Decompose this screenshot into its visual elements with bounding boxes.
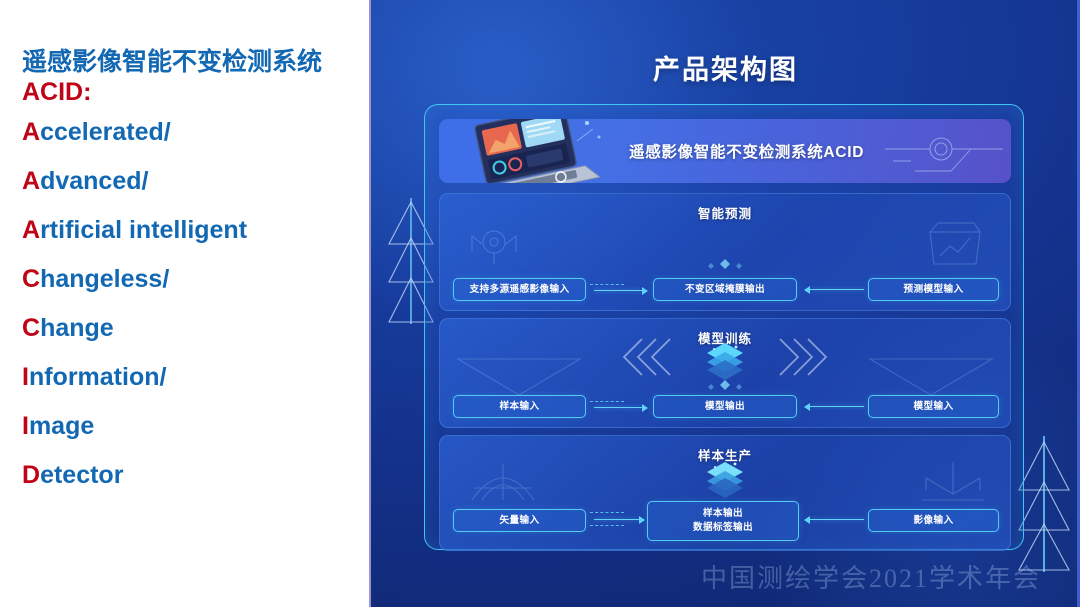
item-capital: A bbox=[22, 167, 40, 195]
funnel-outline-icon bbox=[454, 357, 584, 397]
connector-right-to-mid bbox=[802, 285, 864, 299]
item-rest: hange bbox=[40, 314, 114, 342]
list-item: Changeless/ bbox=[22, 267, 363, 292]
watermark: 中国测绘学会2021学术年会 bbox=[701, 558, 1041, 595]
item-capital: I bbox=[22, 363, 29, 391]
system-banner: 遥感影像智能不变检测系统ACID bbox=[439, 119, 1011, 183]
connector-left-to-mid bbox=[590, 282, 650, 296]
item-rest: ccelerated/ bbox=[40, 118, 171, 146]
stacked-cube-icon bbox=[702, 339, 748, 381]
section-sample-production: 样本生产 bbox=[439, 435, 1011, 551]
box-sample-output[interactable]: 样本输出 数据标签输出 bbox=[647, 501, 799, 541]
item-rest: hangeless/ bbox=[40, 265, 169, 293]
diamond-accent-icon bbox=[705, 377, 745, 389]
left-text-panel: 遥感影像智能不变检测系统 ACID: Accelerated/ Advanced… bbox=[0, 0, 371, 607]
item-rest: mage bbox=[29, 412, 94, 440]
connector-left-to-mid bbox=[590, 512, 650, 526]
list-item: Detector bbox=[22, 463, 363, 488]
list-item: Accelerated/ bbox=[22, 120, 363, 145]
system-title: 遥感影像智能不变检测系统 bbox=[22, 48, 363, 76]
page-title: 产品架构图 bbox=[371, 48, 1080, 87]
banner-label: 遥感影像智能不变检测系统ACID bbox=[629, 140, 864, 162]
section-intelligent-prediction: 智能预测 支持多源遥感影像输入 不变区域掩膜输出 bbox=[439, 193, 1011, 311]
box-model-output[interactable]: 模型输出 bbox=[653, 395, 797, 418]
item-capital: I bbox=[22, 412, 29, 440]
box-image-input[interactable]: 影像输入 bbox=[868, 509, 999, 532]
item-capital: A bbox=[22, 216, 40, 244]
chevron-left-icon bbox=[620, 337, 674, 377]
connector-right-to-mid bbox=[802, 515, 864, 529]
item-capital: C bbox=[22, 314, 40, 342]
laptop-illustration bbox=[459, 119, 619, 183]
diamond-accent-icon bbox=[705, 256, 745, 268]
box-vector-input[interactable]: 矢量输入 bbox=[453, 509, 586, 532]
circuit-node-icon bbox=[885, 127, 1005, 177]
chart-box-outline-icon bbox=[924, 220, 986, 268]
box-multi-source-input[interactable]: 支持多源遥感影像输入 bbox=[453, 278, 586, 301]
item-capital: D bbox=[22, 461, 40, 489]
list-item: Advanced/ bbox=[22, 169, 363, 194]
list-item: Artificial intelligent bbox=[22, 218, 363, 243]
box-line-1: 样本输出 bbox=[703, 507, 743, 521]
connector-right-to-mid bbox=[802, 402, 864, 416]
item-rest: nformation/ bbox=[29, 363, 167, 391]
box-model-input[interactable]: 模型输入 bbox=[868, 395, 999, 418]
connector-left-to-mid bbox=[590, 399, 650, 413]
architecture-card: 遥感影像智能不变检测系统ACID 智能预测 bbox=[424, 104, 1024, 550]
box-prediction-model-input[interactable]: 预测模型输入 bbox=[868, 278, 999, 301]
item-rest: dvanced/ bbox=[40, 167, 148, 195]
acronym-list: Accelerated/ Advanced/ Artificial intell… bbox=[22, 120, 363, 488]
list-item: Image bbox=[22, 414, 363, 439]
stacked-layers-icon bbox=[702, 458, 748, 498]
box-line-2: 数据标签输出 bbox=[693, 521, 753, 535]
chevron-right-icon bbox=[776, 337, 830, 377]
item-capital: C bbox=[22, 265, 40, 293]
acronym-label: ACID: bbox=[22, 77, 363, 107]
satellite-outline-icon bbox=[464, 222, 524, 268]
globe-grid-outline-icon bbox=[468, 462, 538, 502]
architecture-panel: 产品架构图 中国测绘学会2021学术年会 bbox=[371, 0, 1080, 607]
funnel-outline-icon bbox=[866, 357, 996, 397]
item-capital: A bbox=[22, 118, 40, 146]
item-rest: rtificial intelligent bbox=[40, 216, 247, 244]
section-model-training: 模型训练 bbox=[439, 318, 1011, 428]
box-sample-input[interactable]: 样本输入 bbox=[453, 395, 586, 418]
slide: 遥感影像智能不变检测系统 ACID: Accelerated/ Advanced… bbox=[0, 0, 1080, 607]
antenna-outline-icon bbox=[920, 460, 986, 504]
list-item: Change bbox=[22, 316, 363, 341]
box-invariant-mask-output[interactable]: 不变区域掩膜输出 bbox=[653, 278, 797, 301]
item-rest: etector bbox=[40, 461, 123, 489]
list-item: Information/ bbox=[22, 365, 363, 390]
